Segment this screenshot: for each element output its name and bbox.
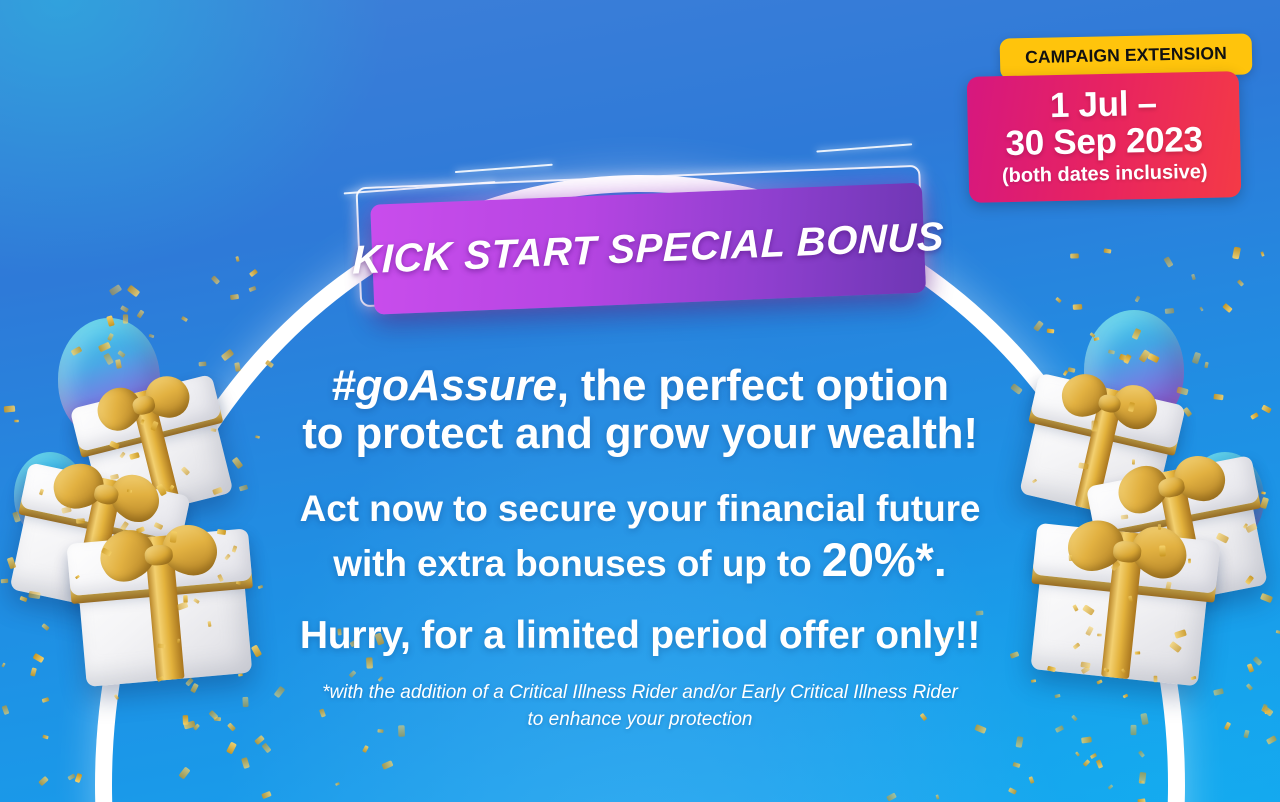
headline-line-2: to protect and grow your wealth! bbox=[0, 410, 1280, 458]
kick-start-plaque: KICK START SPECIAL BONUS bbox=[347, 158, 933, 331]
main-copy-block: #goAssure, the perfect option to protect… bbox=[0, 362, 1280, 734]
campaign-dates-badge: 1 Jul – 30 Sep 2023 (both dates inclusiv… bbox=[967, 71, 1242, 203]
headline: #goAssure, the perfect option to protect… bbox=[0, 362, 1280, 458]
plaque-title: KICK START SPECIAL BONUS bbox=[352, 214, 944, 283]
headline-line-1: #goAssure, the perfect option bbox=[0, 362, 1280, 410]
campaign-badge-stack: CAMPAIGN EXTENSION 1 Jul – 30 Sep 2023 (… bbox=[962, 36, 1262, 216]
subcopy-line-2-pre: with extra bonuses of up to bbox=[333, 543, 822, 584]
urgency-line: Hurry, for a limited period offer only!! bbox=[0, 614, 1280, 658]
subcopy-line-2: with extra bonuses of up to 20%*. bbox=[0, 531, 1280, 588]
campaign-extension-label: CAMPAIGN EXTENSION bbox=[1012, 43, 1240, 69]
headline-rest: , the perfect option bbox=[557, 361, 949, 410]
plaque-body: KICK START SPECIAL BONUS bbox=[370, 183, 926, 315]
subcopy: Act now to secure your financial future … bbox=[0, 486, 1280, 588]
subcopy-line-1: Act now to secure your financial future bbox=[0, 486, 1280, 531]
subcopy-line-2-post: . bbox=[934, 533, 947, 586]
promotional-banner: KICK START SPECIAL BONUS CAMPAIGN EXTENS… bbox=[0, 0, 1280, 802]
disclaimer-line-2: to enhance your protection bbox=[0, 707, 1280, 734]
campaign-date-line-2: 30 Sep 2023 bbox=[978, 121, 1231, 164]
campaign-date-note: (both dates inclusive) bbox=[979, 160, 1231, 188]
disclaimer-line-1: *with the addition of a Critical Illness… bbox=[0, 680, 1280, 707]
disclaimer: *with the addition of a Critical Illness… bbox=[0, 680, 1280, 734]
bonus-percentage: 20%* bbox=[822, 533, 934, 586]
headline-brand: #goAssure bbox=[331, 361, 557, 410]
